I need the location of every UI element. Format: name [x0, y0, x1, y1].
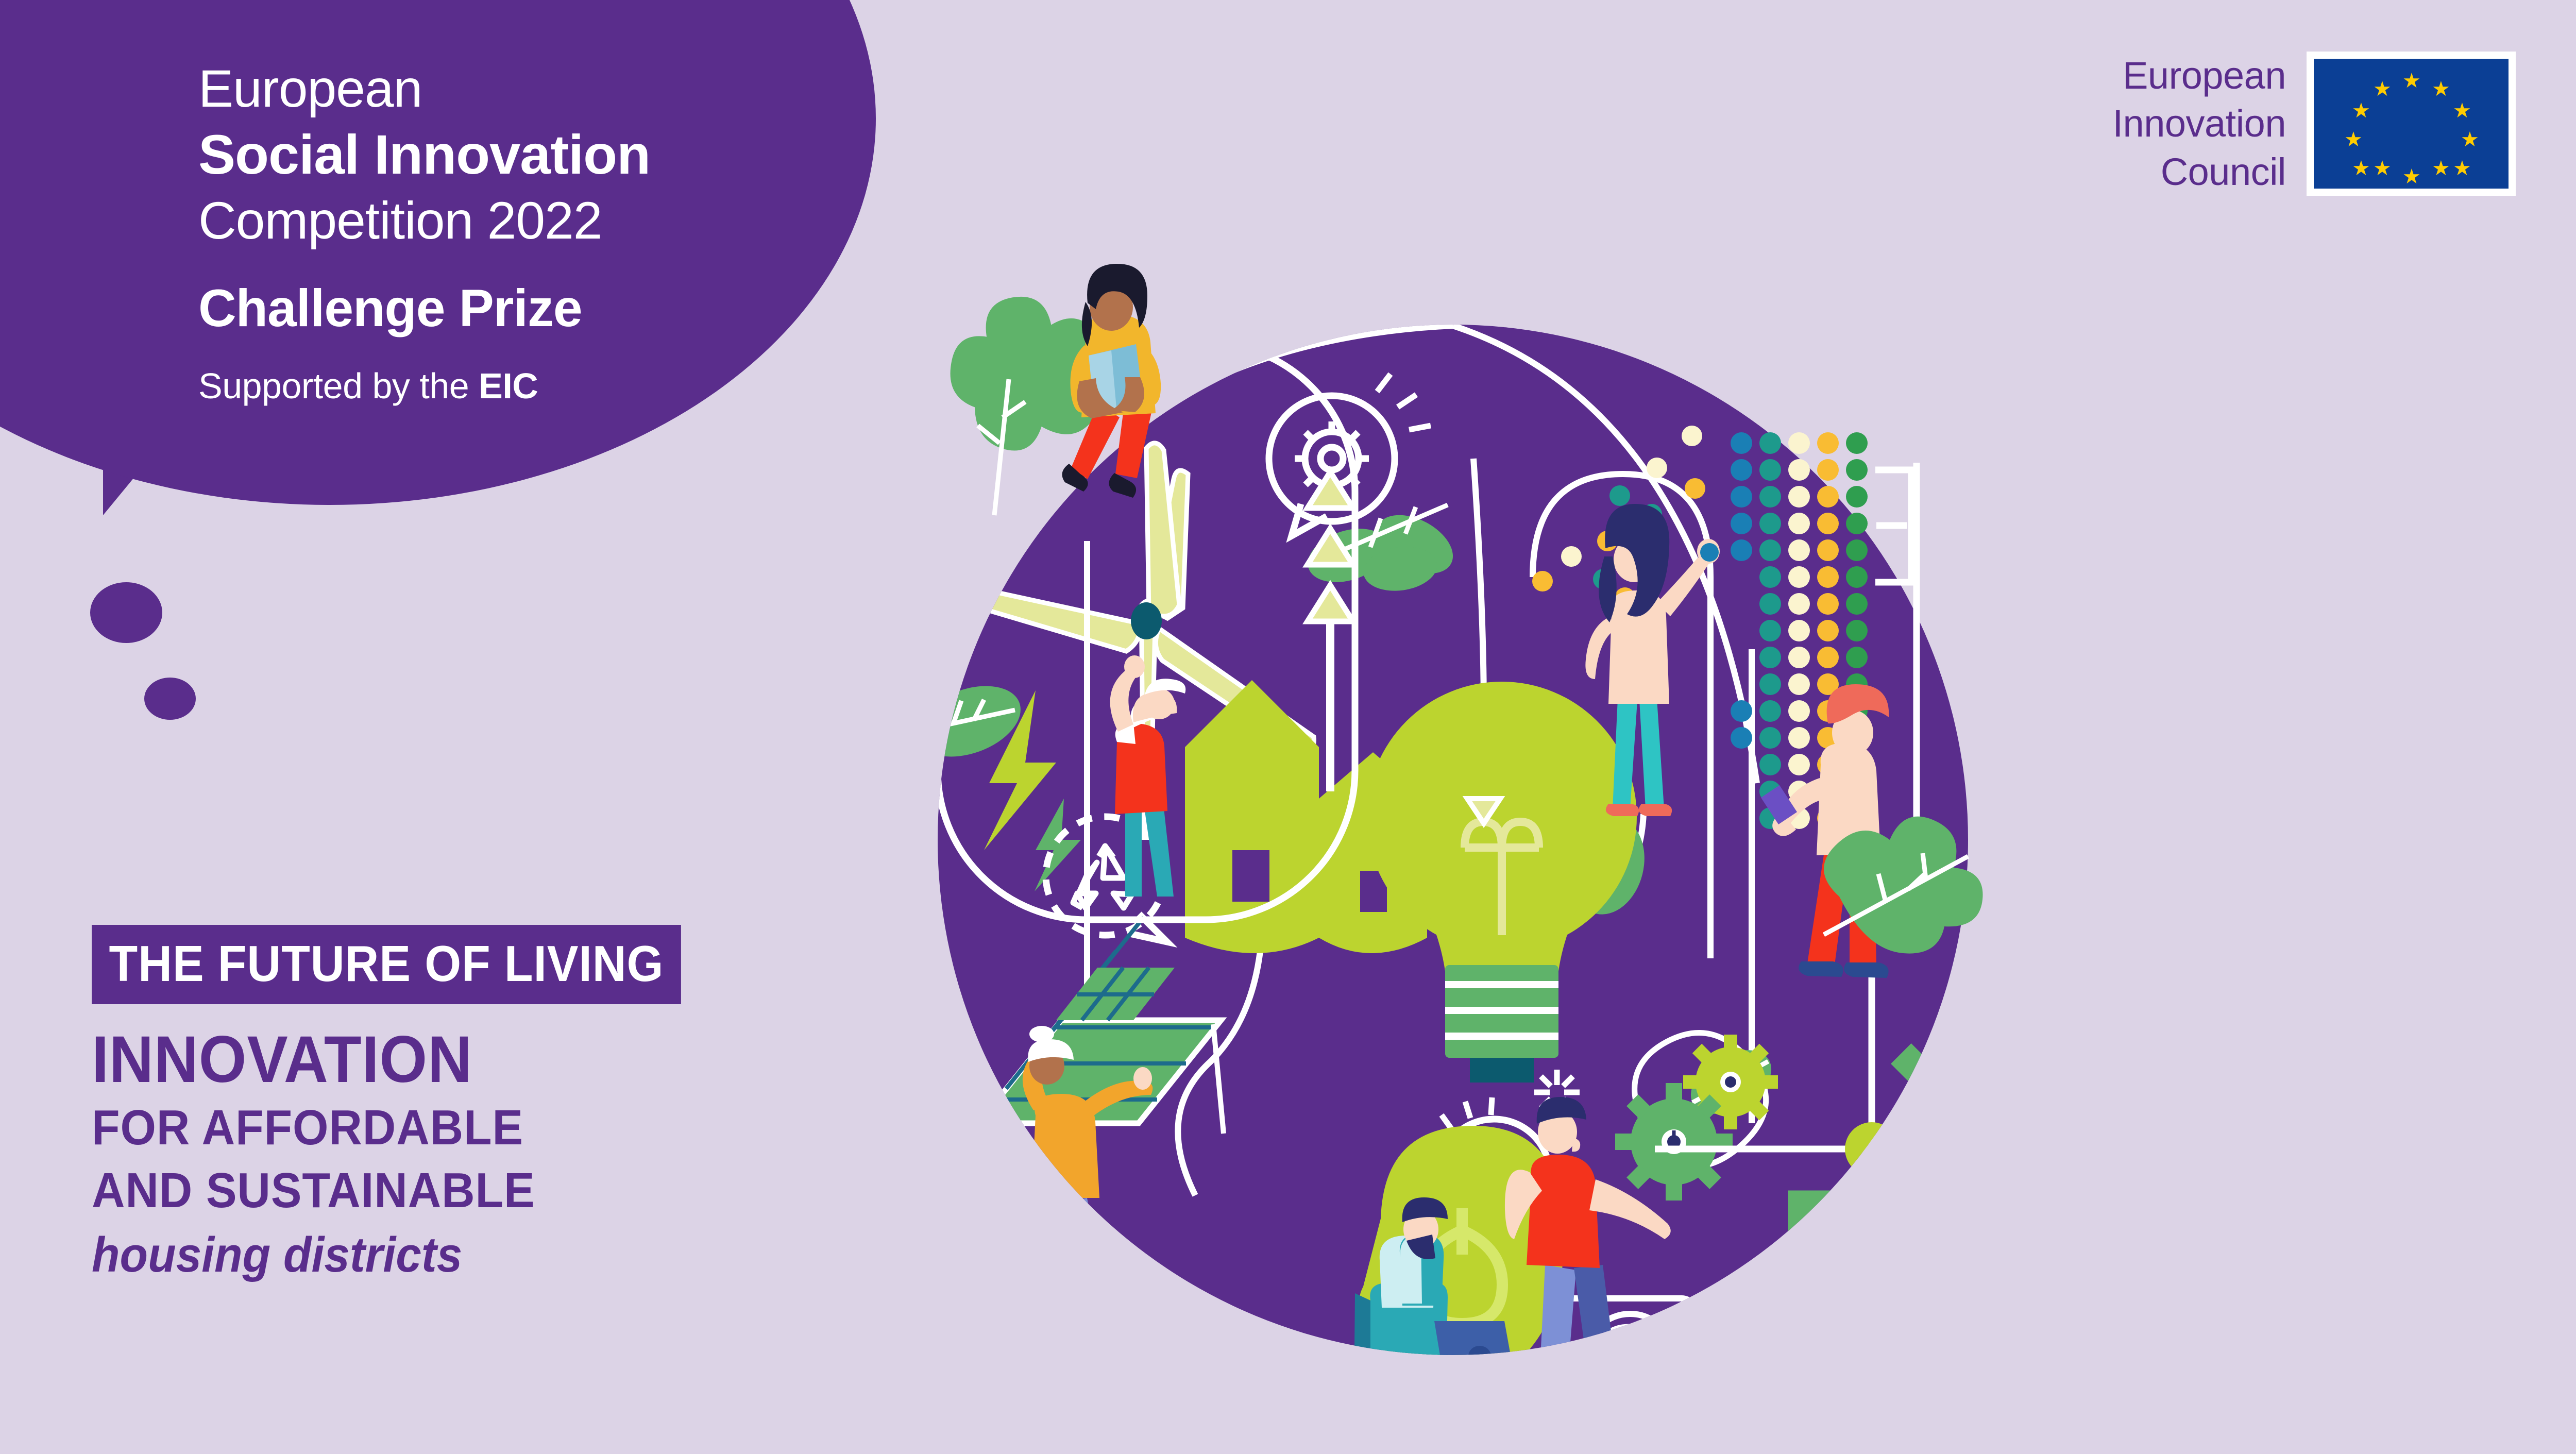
eic-logo: European Innovation Council ★ ★ ★ ★ ★ ★ … [2113, 52, 2516, 196]
competition-title-block: European Social Innovation Competition 2… [198, 57, 817, 408]
title-line-european: European [198, 57, 817, 121]
supported-by-eic: EIC [479, 366, 538, 406]
supported-by-prefix: Supported by the [198, 366, 479, 406]
timeline-play-arrows [840, 1396, 991, 1454]
poster-canvas: European Social Innovation Competition 2… [0, 0, 2576, 1454]
headline-banner: THE FUTURE OF LIVING [92, 925, 681, 1004]
eic-text-innovation: Innovation [2113, 99, 2286, 147]
headline-block: THE FUTURE OF LIVING INNOVATION FOR AFFO… [92, 925, 725, 1283]
headline-and-sustainable: AND SUSTAINABLE [92, 1163, 681, 1219]
eic-logo-text: European Innovation Council [2113, 52, 2286, 196]
eic-text-council: Council [2113, 148, 2286, 196]
thought-bubble-dot-small [144, 678, 196, 720]
eu-flag-icon: ★ ★ ★ ★ ★ ★ ★ ★ ★ ★ ★ ★ [2314, 59, 2509, 189]
supported-by-line: Supported by the EIC [198, 364, 817, 408]
title-line-social-innovation: Social Innovation [198, 121, 817, 189]
eu-flag-frame: ★ ★ ★ ★ ★ ★ ★ ★ ★ ★ ★ ★ [2307, 52, 2516, 196]
headline-body: INNOVATION FOR AFFORDABLE AND SUSTAINABL… [92, 1027, 725, 1283]
headline-innovation: INNOVATION [92, 1027, 681, 1093]
woman-scientist-with-book [1835, 1247, 1929, 1454]
timeline-arrowhead-end [1859, 1404, 1900, 1447]
main-illustration [907, 319, 2066, 1454]
title-line-competition-year: Competition 2022 [198, 189, 817, 252]
chart-line-peaks [829, 660, 943, 724]
headline-for-affordable: FOR AFFORDABLE [92, 1100, 681, 1156]
eic-text-european: European [2113, 52, 2286, 99]
headline-housing-districts: housing districts [92, 1227, 681, 1283]
title-line-challenge-prize: Challenge Prize [198, 277, 817, 340]
thought-bubble-dot-large [90, 582, 162, 643]
